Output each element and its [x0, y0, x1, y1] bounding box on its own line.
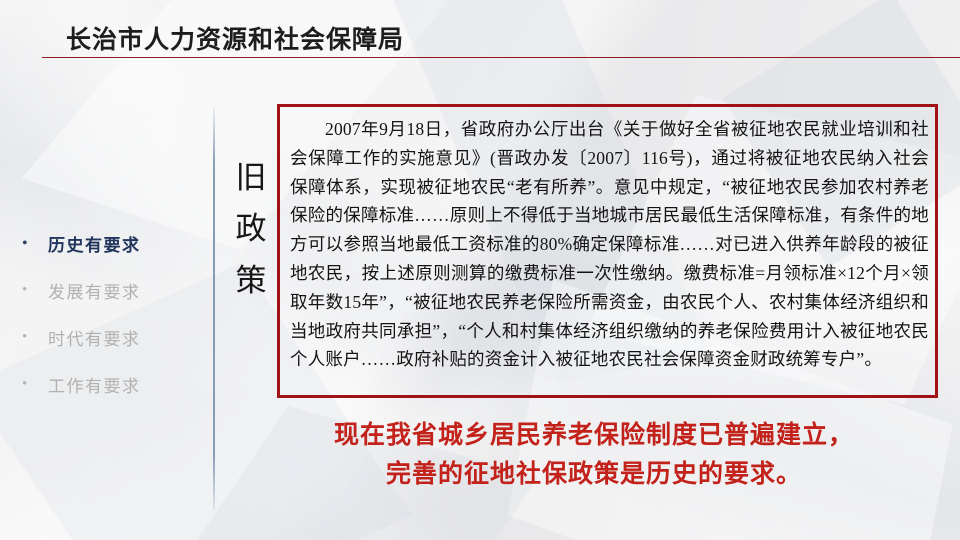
sidebar-item-work[interactable]: • 工作有要求 [18, 361, 208, 408]
bullet-icon: • [22, 377, 36, 392]
policy-text-box: 2007年9月18日，省政府办公厅出台《关于做好全省被征地农民就业培训和社会保障… [277, 104, 938, 398]
sidebar-item-label: 时代有要求 [36, 325, 141, 350]
conclusion-line: 完善的征地社保政策是历史的要求。 [244, 455, 944, 494]
sidebar-item-label: 工作有要求 [36, 372, 141, 397]
sidebar-item-era[interactable]: • 时代有要求 [18, 314, 208, 361]
section-label-char: 旧 [228, 152, 274, 203]
sidebar-item-label: 发展有要求 [36, 278, 141, 303]
page-title: 长治市人力资源和社会保障局 [66, 20, 404, 56]
sidebar-item-development[interactable]: • 发展有要求 [18, 267, 208, 314]
section-label-old-policy: 旧 政 策 [228, 152, 274, 306]
section-label-char: 政 [228, 203, 274, 254]
section-label-char: 策 [228, 255, 274, 306]
header-divider-rule [42, 57, 960, 58]
policy-body-text: 2007年9月18日，省政府办公厅出台《关于做好全省被征地农民就业培训和社会保障… [290, 115, 929, 374]
bullet-icon: • [22, 283, 36, 298]
slide-root: 长治市人力资源和社会保障局 • 历史有要求 • 发展有要求 • 时代有要求 • … [0, 0, 960, 540]
conclusion-line: 现在我省城乡居民养老保险制度已普遍建立， [244, 416, 944, 455]
bullet-icon: • [22, 236, 36, 252]
conclusion-statement: 现在我省城乡居民养老保险制度已普遍建立， 完善的征地社保政策是历史的要求。 [244, 416, 944, 494]
sidebar-item-history[interactable]: • 历史有要求 [18, 220, 208, 267]
bullet-icon: • [22, 330, 36, 345]
sidebar-nav: • 历史有要求 • 发展有要求 • 时代有要求 • 工作有要求 [18, 220, 208, 408]
sidebar-item-label: 历史有要求 [36, 231, 141, 256]
vertical-divider-line [213, 108, 215, 510]
